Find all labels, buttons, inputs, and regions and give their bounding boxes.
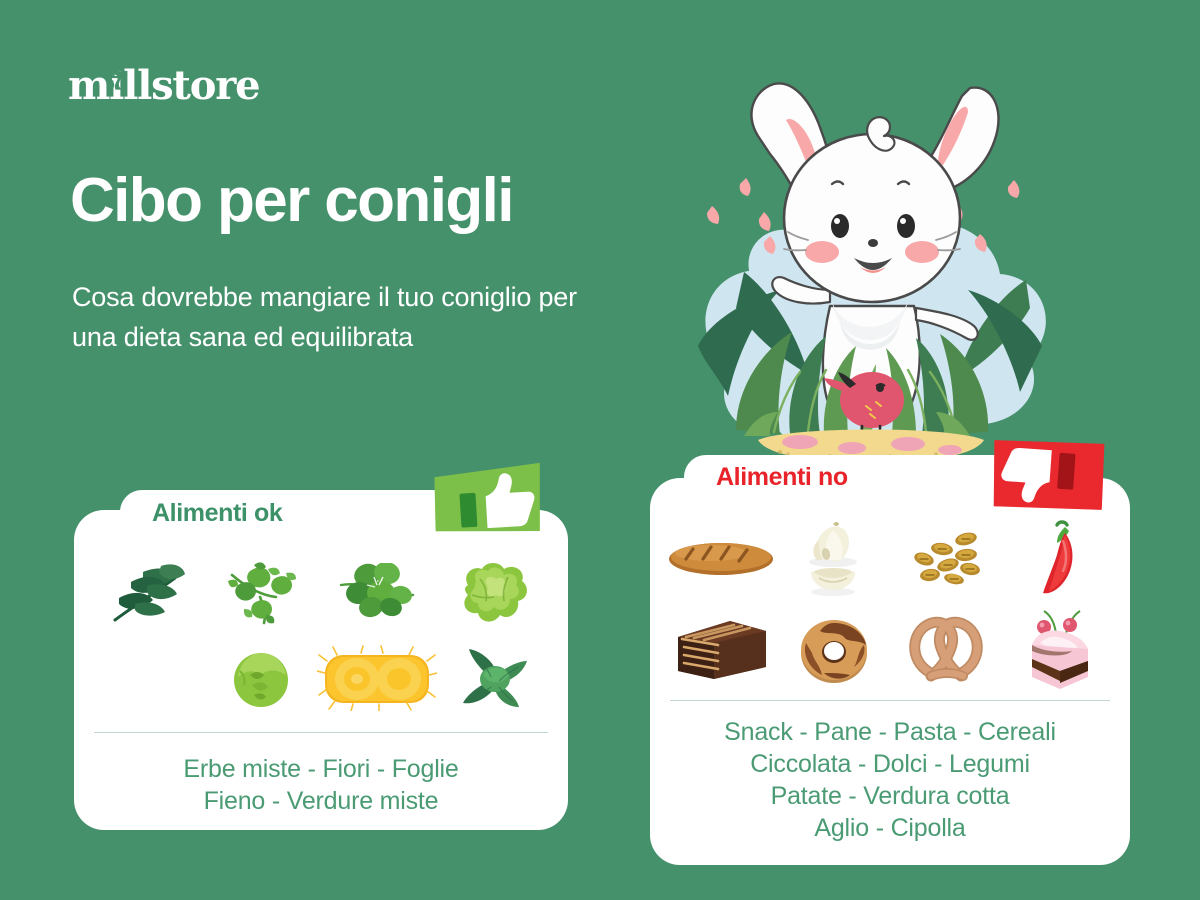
icon-cell-hay-bale[interactable] bbox=[317, 645, 437, 711]
icon-cell-baguette[interactable] bbox=[664, 535, 777, 581]
infographic-canvas: mi llstore Cibo per conigli Cosa dovrebb… bbox=[0, 0, 1200, 900]
no-caption-line-3: Patate - Verdura cotta bbox=[650, 780, 1130, 812]
cake-slice-icon bbox=[1026, 609, 1094, 691]
brand-logo-text-b: llstore bbox=[123, 62, 259, 109]
brand-logo-text-a: m bbox=[68, 62, 109, 109]
icon-cell-cabbage[interactable] bbox=[205, 647, 318, 709]
card-divider bbox=[670, 700, 1110, 701]
basil-icon bbox=[457, 645, 531, 711]
cereal-seeds-icon bbox=[908, 529, 986, 587]
chili-pepper-icon bbox=[1035, 519, 1085, 597]
icon-cell-chocolate-cake[interactable] bbox=[664, 617, 777, 683]
no-caption-line-4: Aglio - Cipolla bbox=[650, 812, 1130, 844]
card-alimenti-ok: Erbe miste - Fiori - Foglie Fieno - Verd… bbox=[74, 510, 568, 830]
icon-cell-chili-pepper[interactable] bbox=[1003, 519, 1116, 597]
icon-cell-pretzel[interactable] bbox=[890, 614, 1003, 686]
ok-caption-line-1: Erbe miste - Fiori - Foglie bbox=[74, 753, 568, 785]
icon-cell-lettuce[interactable] bbox=[437, 559, 550, 629]
garlic-icon bbox=[799, 520, 869, 596]
no-caption-line-2: Ciccolata - Dolci - Legumi bbox=[650, 748, 1130, 780]
no-caption: Snack - Pane - Pasta - Cereali Ciccolata… bbox=[650, 716, 1130, 844]
ok-caption-line-2: Fieno - Verdure miste bbox=[74, 785, 568, 817]
bay-leaves-icon bbox=[109, 560, 187, 628]
card-divider bbox=[94, 732, 548, 733]
icon-cell-bay-leaves[interactable] bbox=[92, 560, 205, 628]
brand-logo[interactable]: mi llstore bbox=[68, 66, 259, 106]
hay-bale-icon bbox=[317, 645, 437, 711]
brand-logo-i-letter: i bbox=[109, 62, 123, 109]
icon-cell-clover-leaves[interactable] bbox=[317, 563, 437, 625]
thumbs-down-icon[interactable] bbox=[990, 436, 1107, 516]
cabbage-icon bbox=[230, 647, 292, 709]
card-alimenti-no: Snack - Pane - Pasta - Cereali Ciccolata… bbox=[650, 478, 1130, 865]
clover-leaves-icon bbox=[337, 563, 417, 625]
rabbit-in-grass-illustration bbox=[640, 40, 1100, 465]
icon-cell-garlic[interactable] bbox=[777, 520, 890, 596]
page-title: Cibo per conigli bbox=[70, 168, 513, 234]
thumbs-up-icon[interactable] bbox=[432, 463, 546, 541]
brand-logo-i: i bbox=[109, 66, 123, 106]
no-food-icon-grid bbox=[650, 512, 1130, 696]
page-subtitle: Cosa dovrebbe mangiare il tuo coniglio p… bbox=[72, 278, 592, 358]
chocolate-cake-icon bbox=[672, 617, 770, 683]
icon-cell-cereal-seeds[interactable] bbox=[890, 529, 1003, 587]
lettuce-icon bbox=[456, 559, 532, 629]
card-title-alimenti-ok[interactable]: Alimenti ok bbox=[120, 490, 480, 536]
card-title-label-ok: Alimenti ok bbox=[152, 499, 282, 528]
icon-cell-donut[interactable] bbox=[777, 615, 890, 685]
card-title-label-no: Alimenti no bbox=[716, 463, 848, 492]
icon-cell-cake-slice[interactable] bbox=[1003, 609, 1116, 691]
baguette-bread-icon bbox=[667, 535, 775, 581]
card-title-alimenti-no[interactable]: Alimenti no bbox=[684, 455, 1034, 500]
donut-icon bbox=[798, 615, 870, 685]
icon-cell-basil[interactable] bbox=[437, 645, 550, 711]
no-caption-line-1: Snack - Pane - Pasta - Cereali bbox=[650, 716, 1130, 748]
pretzel-icon bbox=[901, 614, 993, 686]
ok-caption: Erbe miste - Fiori - Foglie Fieno - Verd… bbox=[74, 753, 568, 817]
parsley-icon bbox=[224, 561, 298, 627]
icon-cell-parsley[interactable] bbox=[205, 561, 318, 627]
ok-food-icon-grid bbox=[74, 552, 568, 720]
